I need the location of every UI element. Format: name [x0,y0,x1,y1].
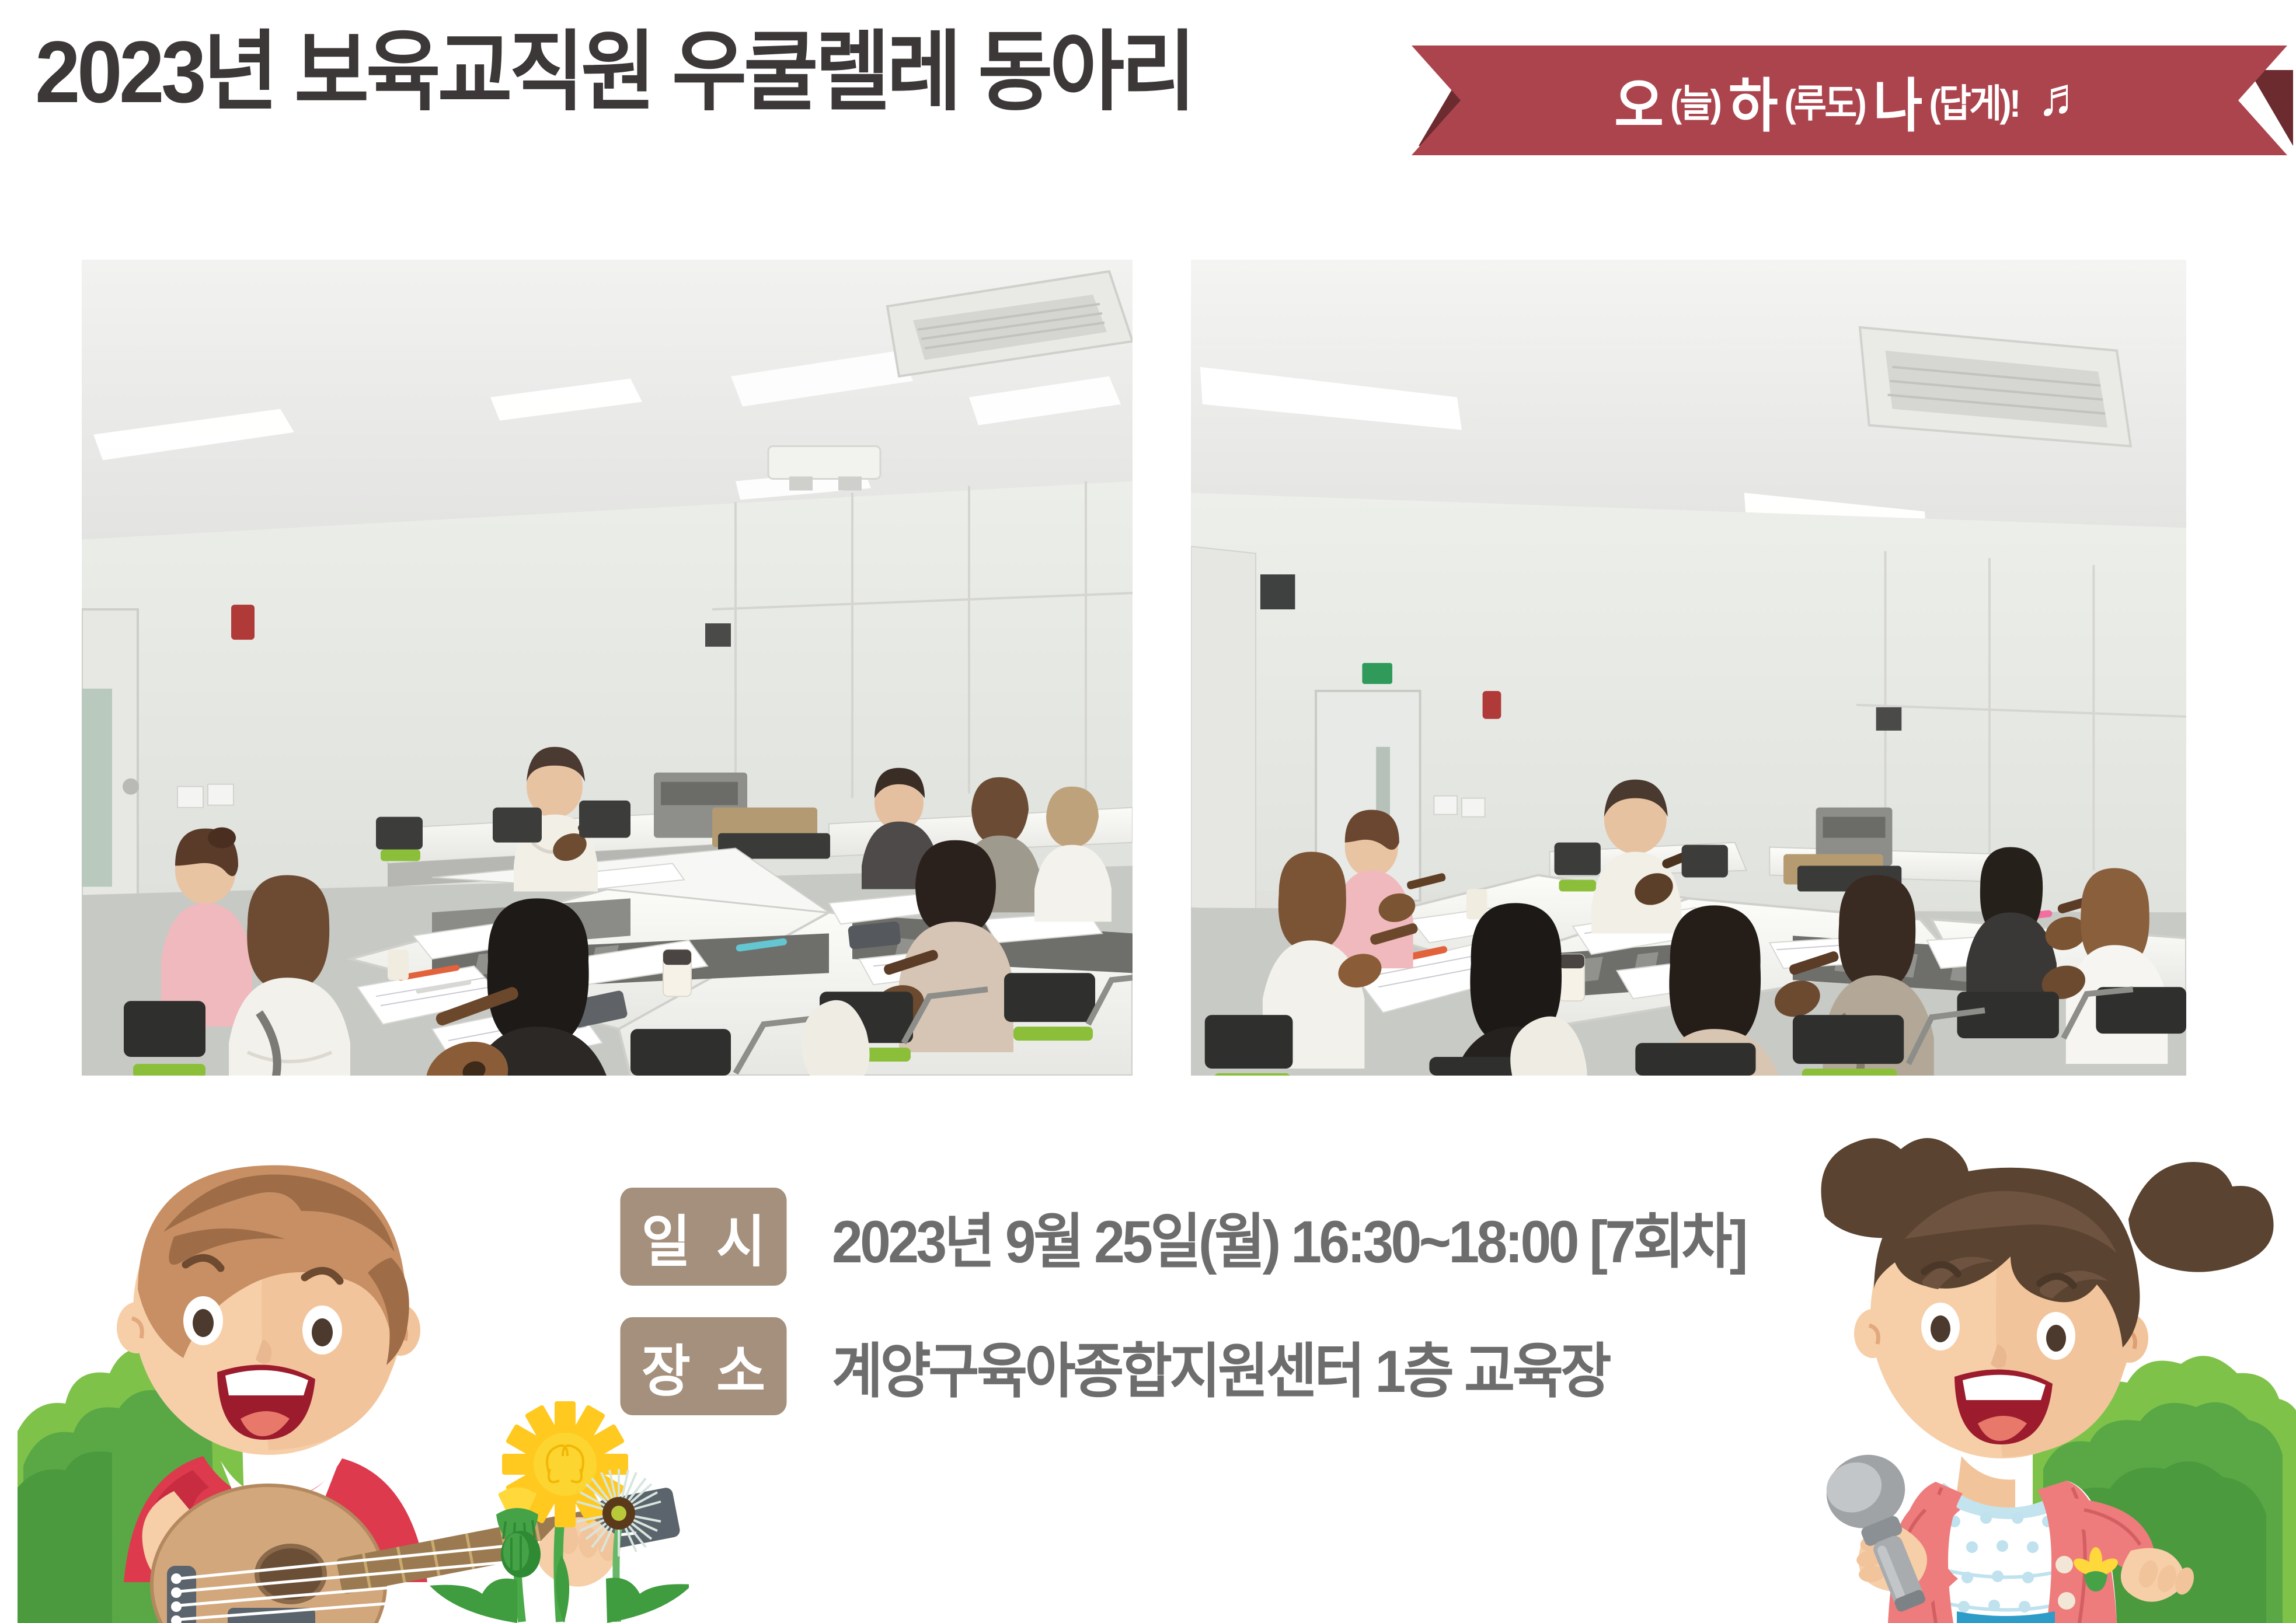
location-value: 계양구육아종합지원센터 1층 교육장 [832,1324,1609,1409]
event-details: 일 시 2023년 9월 25일(월) 16:30~18:00 [7회차] 장 … [616,1188,1871,1447]
photo-1-illustration [82,260,1133,1076]
ukulele-class-photo-1 [82,260,1133,1076]
page-title: 2023년 보육교직원 우쿨렐레 동아리 [35,28,1193,116]
datetime-value: 2023년 9월 25일(월) 16:30~18:00 [7회차] [832,1194,1745,1280]
ribbon-word-3-stem: 나 [1873,58,1921,143]
ukulele-class-photo-2 [1191,260,2186,1076]
ribbon-word-1-suffix: (늘) [1670,72,1720,128]
poster-header: 2023년 보육교직원 우쿨렐레 동아리 오(늘) 하(루도) 나(답게)! ♬ [0,0,2296,210]
tagline-ribbon: 오(늘) 하(루도) 나(답게)! ♬ [1412,46,2296,162]
ribbon-word-2-suffix: (루도) [1785,72,1865,128]
photo-2-illustration [1191,260,2186,1076]
poster-canvas: 2023년 보육교직원 우쿨렐레 동아리 오(늘) 하(루도) 나(답게)! ♬ [0,0,2296,1623]
girl-with-microphone-illustration [1769,1106,2296,1623]
music-note-icon: ♬ [2037,70,2085,124]
event-location-row: 장 소 계양구육아종합지원센터 1층 교육장 [616,1317,1871,1415]
ribbon-word-3-suffix: (답게)! [1929,72,2019,128]
girl-with-microphone [1769,1106,2296,1623]
event-datetime-row: 일 시 2023년 9월 25일(월) 16:30~18:00 [7회차] [616,1188,1871,1286]
boy-with-guitar [18,1118,689,1623]
boy-with-guitar-illustration [18,1118,689,1623]
ribbon-word-1-stem: 오 [1614,58,1661,143]
ribbon-tagline: 오(늘) 하(루도) 나(답게)! ♬ [1447,46,2252,155]
ribbon-word-2-stem: 하 [1729,58,1776,143]
